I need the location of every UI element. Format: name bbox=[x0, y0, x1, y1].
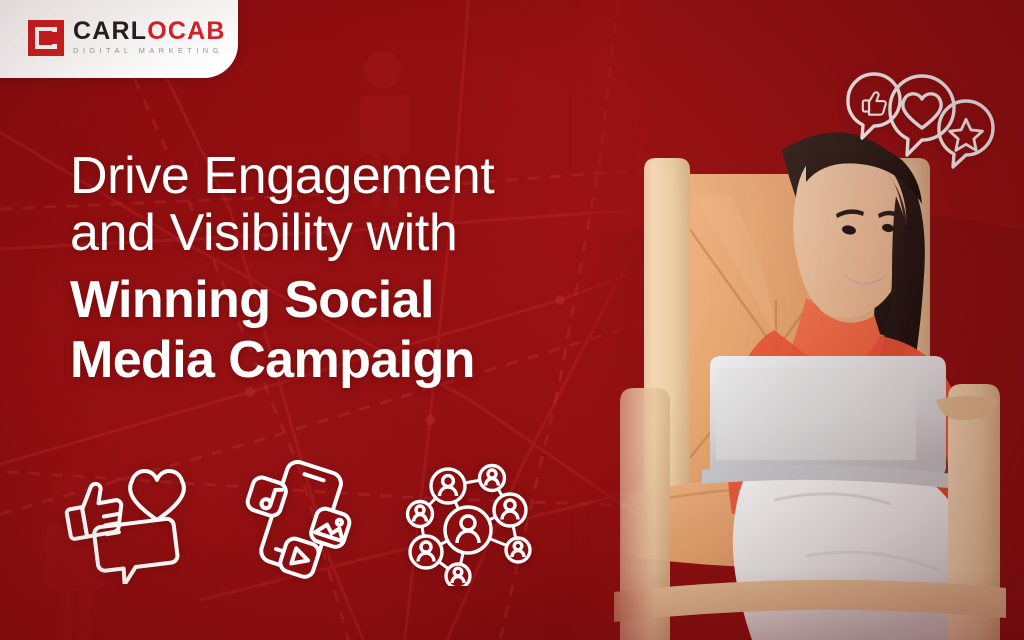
social-media-campaign-banner: CARLOCAB DIGITAL MARKETING Drive Engagem… bbox=[0, 0, 1024, 640]
background-vignette bbox=[0, 0, 1024, 640]
